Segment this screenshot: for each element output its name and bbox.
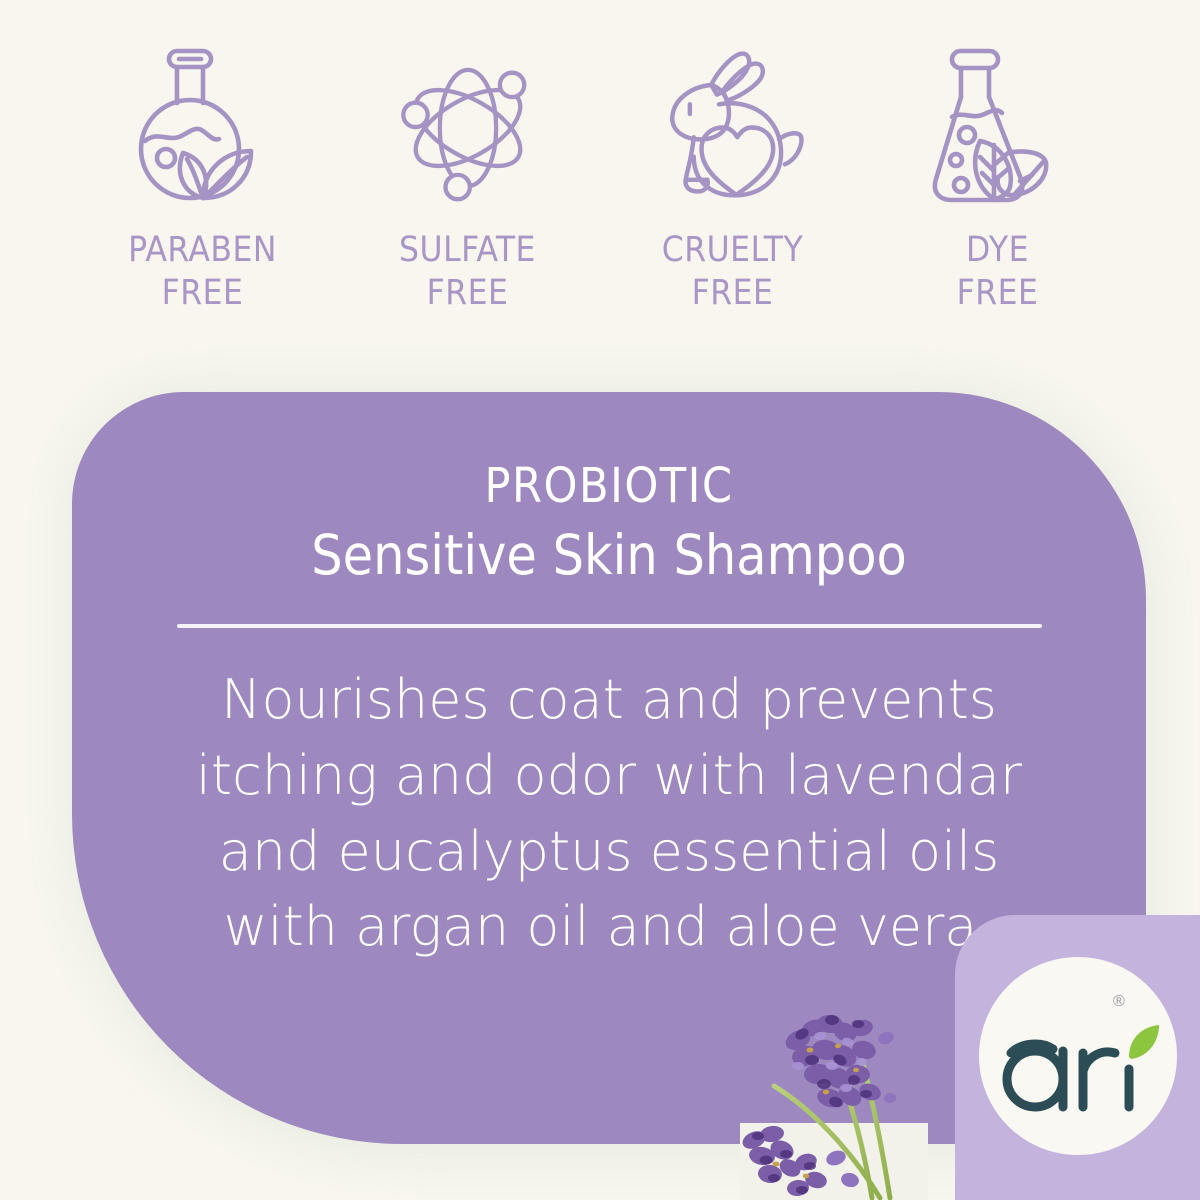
- brand-logo-panel: ®: [955, 915, 1200, 1200]
- erlenmeyer-leaf-icon: [923, 40, 1073, 215]
- lavender-sprigs-photo: [740, 998, 928, 1200]
- lavender-artwork: [740, 998, 928, 1200]
- rabbit-heart-icon: [658, 40, 808, 215]
- badge-sulfate-free: SULFATE FREE: [335, 40, 600, 314]
- certification-badge-row: PARABEN FREE SULFATE FREE: [0, 40, 1200, 340]
- badge-label: DYE FREE: [957, 229, 1039, 314]
- badge-dye-free: DYE FREE: [865, 40, 1130, 314]
- atom-icon: [393, 40, 543, 215]
- brand-logo-circle: [979, 957, 1177, 1155]
- badge-cruelty-free: CRUELTY FREE: [600, 40, 865, 314]
- leaf-icon: [1129, 1025, 1159, 1059]
- product-card-content: PROBIOTIC Sensitive Skin Shampoo Nourish…: [72, 392, 1146, 965]
- divider: [177, 624, 1042, 628]
- product-name: Sensitive Skin Shampoo: [132, 525, 1086, 587]
- flask-leaf-icon: [128, 40, 278, 215]
- badge-label: PARABEN FREE: [128, 229, 277, 314]
- product-description: Nourishes coat and prevents itching and …: [182, 662, 1037, 964]
- ari-logo: [979, 957, 1177, 1155]
- badge-label: CRUELTY FREE: [662, 229, 803, 314]
- badge-label: SULFATE FREE: [399, 229, 536, 314]
- registered-trademark-mark: ®: [1113, 993, 1125, 1011]
- badge-paraben-free: PARABEN FREE: [70, 40, 335, 314]
- product-kicker: PROBIOTIC: [132, 460, 1086, 513]
